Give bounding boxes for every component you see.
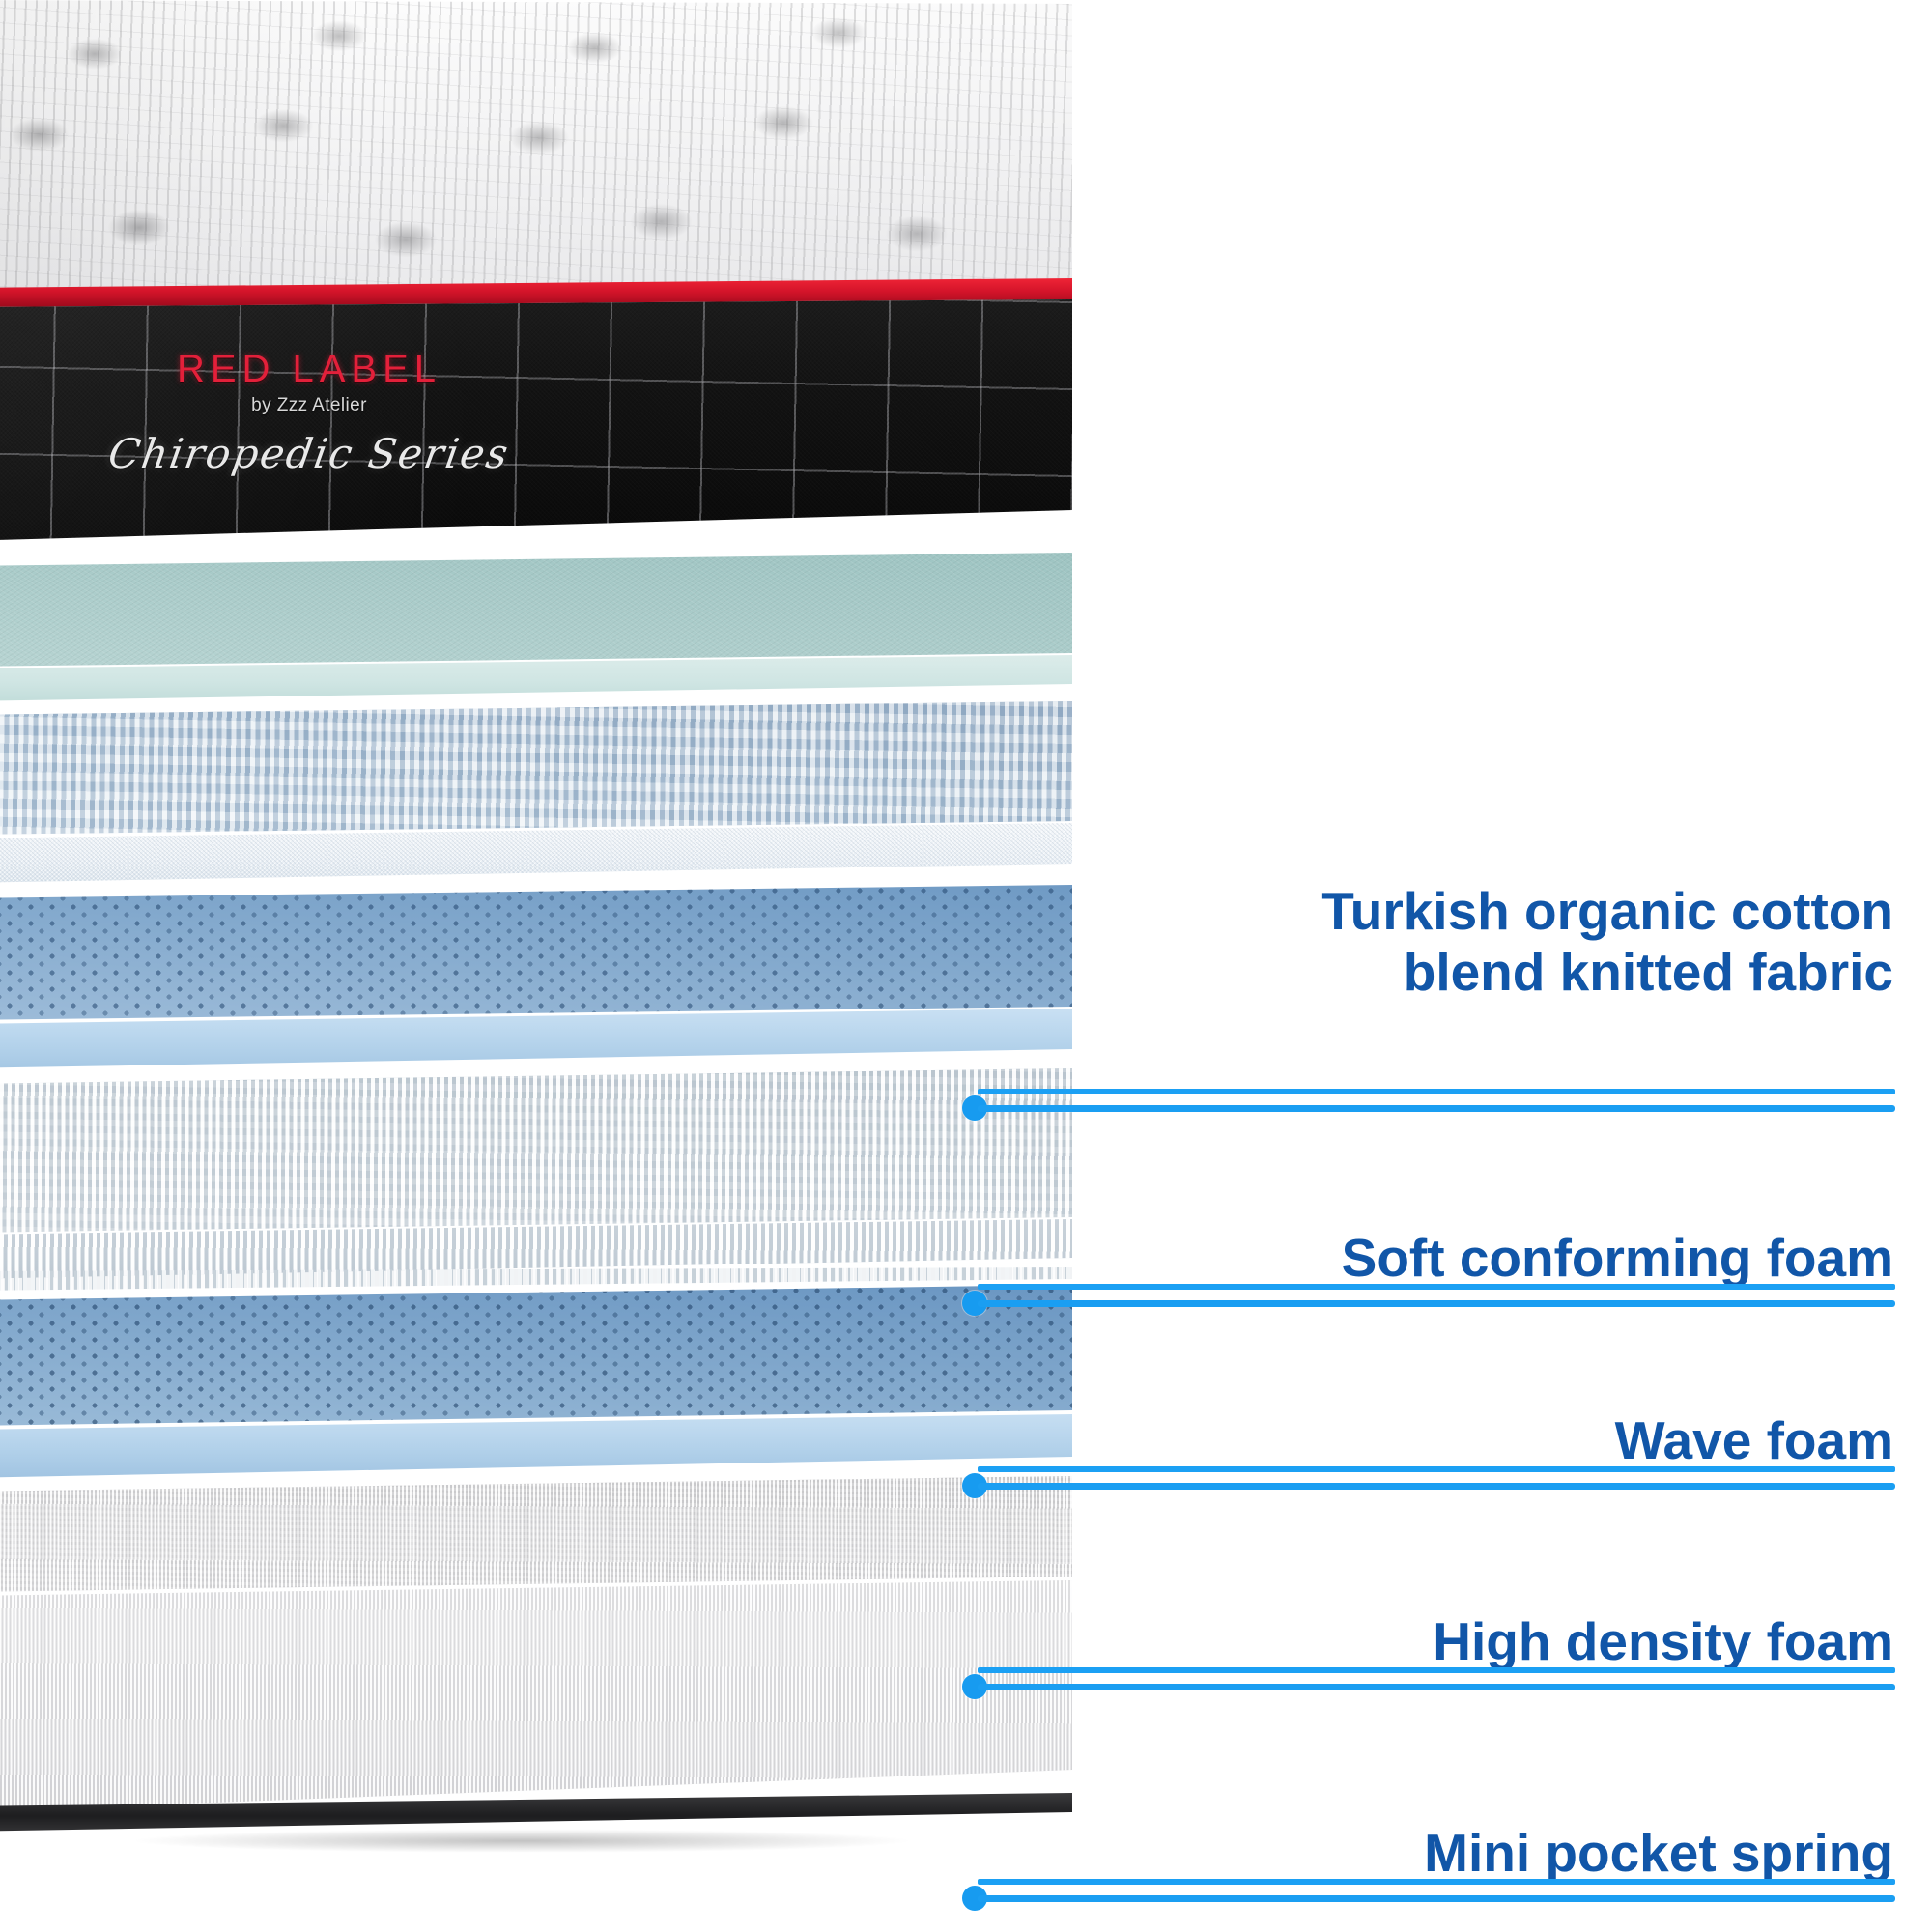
callout-label-cover-fabric: Turkish organic cotton blend knitted fab…: [1024, 881, 1893, 1002]
layer-non-woven-base-face: [0, 1476, 1072, 1592]
callout-label-wave-foam: Wave foam: [1024, 1410, 1893, 1471]
layer-high-density-foam-upper-face: [0, 885, 1072, 1020]
mattress-cutaway-diagram: RED LABEL by Zzz Atelier Chiropedic Seri…: [0, 0, 1932, 1932]
callout-line-cover-fabric: [978, 1105, 1895, 1112]
callout-line-mini-pocket-spring: [978, 1895, 1895, 1902]
callout-rule-cover-fabric: [978, 1089, 1895, 1094]
layer-mini-pocket-spring-face: [0, 1068, 1072, 1233]
callout-line-high-density-foam-upper: [978, 1684, 1895, 1690]
layer-non-woven-base-edge: [0, 1580, 1072, 1812]
callout-rule-wave-foam: [978, 1466, 1895, 1472]
callout-line-wave-foam: [978, 1483, 1895, 1490]
layer-high-density-foam-lower-face: [0, 1285, 1072, 1426]
black-side-panel: [0, 299, 1072, 541]
drop-shadow: [0, 1828, 1063, 1861]
callout-label-high-density-foam-upper: High density foam: [1024, 1611, 1893, 1672]
callout-label-soft-conforming-foam: Soft conforming foam: [1024, 1228, 1893, 1289]
callout-rule-mini-pocket-spring: [978, 1879, 1895, 1885]
layer-wave-foam-face: [0, 701, 1072, 835]
callout-rule-high-density-foam-upper: [978, 1667, 1895, 1673]
layer-soft-conforming-foam-face: [0, 553, 1072, 667]
layer-high-density-foam-lower-edge: [0, 1414, 1072, 1478]
callout-line-soft-conforming-foam: [978, 1300, 1895, 1307]
callout-label-mini-pocket-spring: Mini pocket spring: [1024, 1823, 1893, 1884]
mattress-cover-block: RED LABEL by Zzz Atelier Chiropedic Seri…: [0, 0, 1111, 541]
callout-rule-soft-conforming-foam: [978, 1284, 1895, 1290]
quilted-top-surface: [0, 0, 1072, 299]
mattress-layer-stack: RED LABEL by Zzz Atelier Chiropedic Seri…: [0, 0, 1932, 541]
